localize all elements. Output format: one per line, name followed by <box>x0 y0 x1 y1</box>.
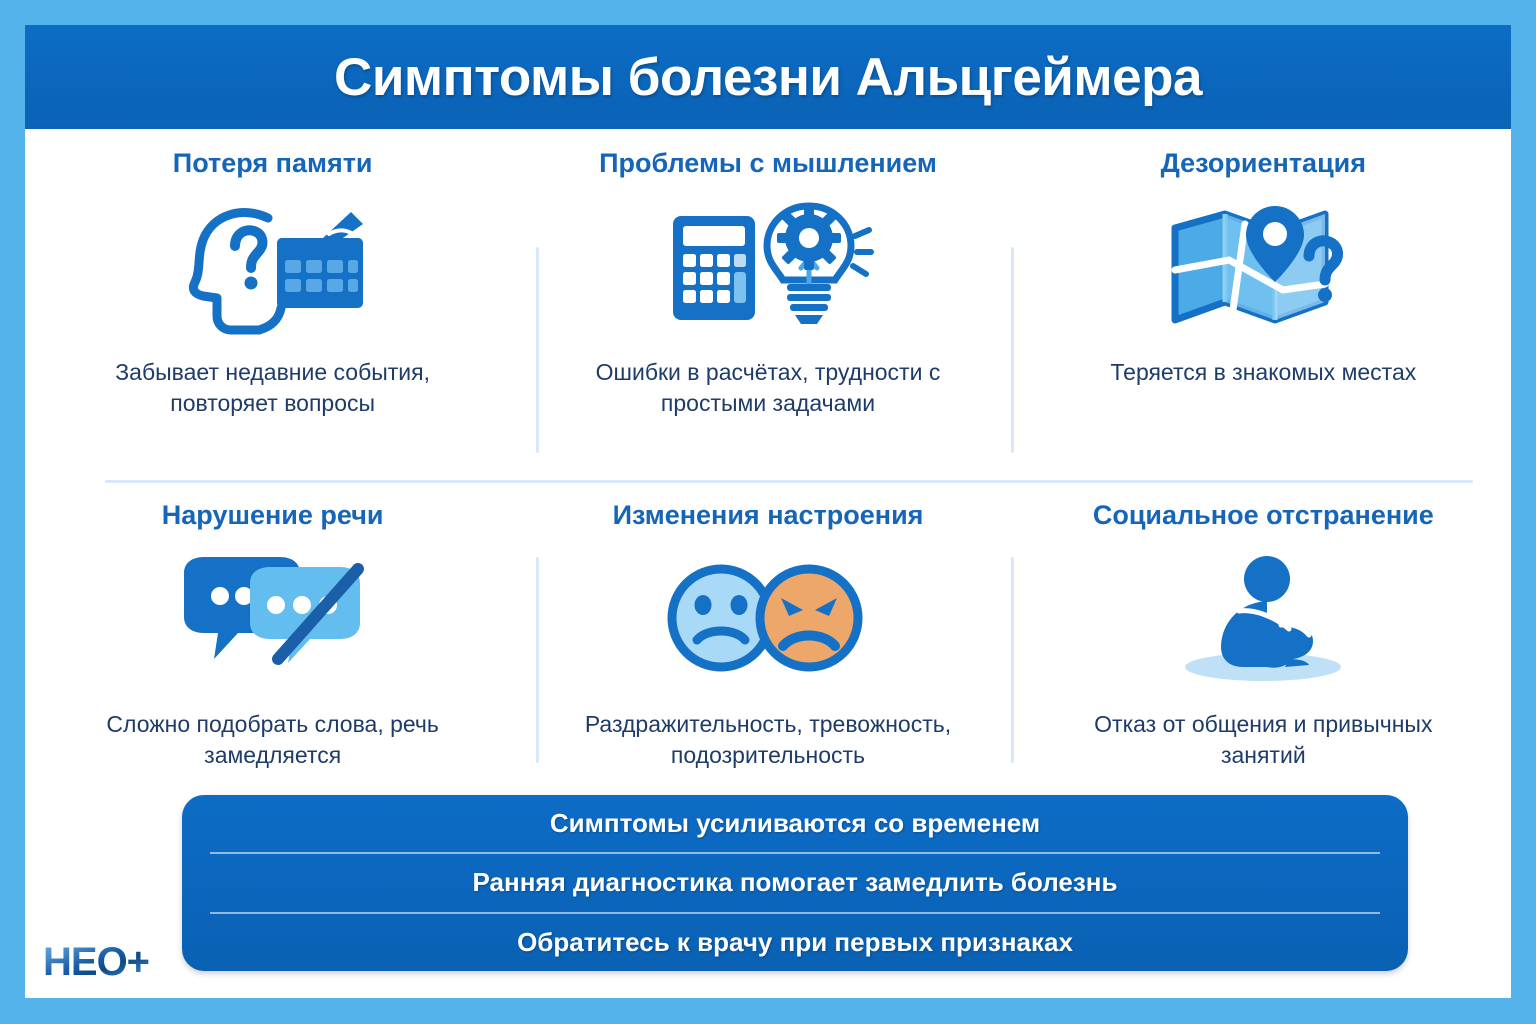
symptom-title: Проблемы с мышлением <box>599 149 937 179</box>
symptom-card-speech-impairment[interactable]: Нарушение речи <box>25 489 520 809</box>
symptoms-grid: Потеря памяти <box>25 129 1511 769</box>
poster-header: Симптомы болезни Альцгеймера <box>25 25 1511 129</box>
key-messages-callout: Симптомы усиливаются со временем Ранняя … <box>182 795 1408 971</box>
symptom-title: Социальное отстранение <box>1093 501 1434 531</box>
vertical-divider <box>536 557 539 763</box>
symptom-description: Отказ от общения и привычных занятий <box>1078 709 1448 772</box>
brand-logo: НЕО+ <box>43 942 149 982</box>
symptoms-row-1: Потеря памяти <box>25 137 1511 457</box>
symptom-card-disorientation[interactable]: Дезориентация <box>1016 137 1511 457</box>
person-sitting-alone-icon <box>1163 545 1363 695</box>
symptom-title: Дезориентация <box>1161 149 1366 179</box>
symptom-card-social-withdrawal[interactable]: Социальное отстранение <box>1016 489 1511 809</box>
map-pin-question-icon <box>1163 193 1363 343</box>
page-title: Симптомы болезни Альцгеймера <box>334 47 1202 108</box>
symptoms-row-2: Нарушение речи <box>25 489 1511 809</box>
callout-line: Обратитесь к врачу при первых признаках <box>210 912 1380 971</box>
vertical-divider <box>1011 557 1014 763</box>
symptom-card-thinking-problems[interactable]: Проблемы с мышлением <box>520 137 1015 457</box>
horizontal-divider <box>105 480 1473 483</box>
callout-line: Ранняя диагностика помогает замедлить бо… <box>210 852 1380 911</box>
poster-panel: Симптомы болезни Альцгеймера Потеря памя… <box>25 25 1511 998</box>
symptom-description: Забывает недавние события, повторяет воп… <box>88 357 458 420</box>
calculator-lightbulb-gear-icon <box>663 193 873 343</box>
vertical-divider <box>536 247 539 453</box>
symptom-description: Сложно подобрать слова, речь замедляется <box>88 709 458 772</box>
callout-line: Симптомы усиливаются со временем <box>210 795 1380 852</box>
symptom-card-memory-loss[interactable]: Потеря памяти <box>25 137 520 457</box>
symptom-description: Ошибки в расчётах, трудности с простыми … <box>583 357 953 420</box>
vertical-divider <box>1011 247 1014 453</box>
speech-bubbles-crossed-icon <box>168 545 378 695</box>
symptom-title: Нарушение речи <box>162 501 384 531</box>
symptom-description: Раздражительность, тревожность, подозрит… <box>583 709 953 772</box>
symptom-title: Потеря памяти <box>173 149 373 179</box>
symptom-description: Теряется в знакомых местах <box>1110 357 1416 389</box>
symptom-title: Изменения настроения <box>613 501 924 531</box>
sad-angry-faces-icon <box>663 545 873 695</box>
head-question-calendar-icon <box>173 193 373 343</box>
symptom-card-mood-changes[interactable]: Изменения настроения <box>520 489 1015 809</box>
